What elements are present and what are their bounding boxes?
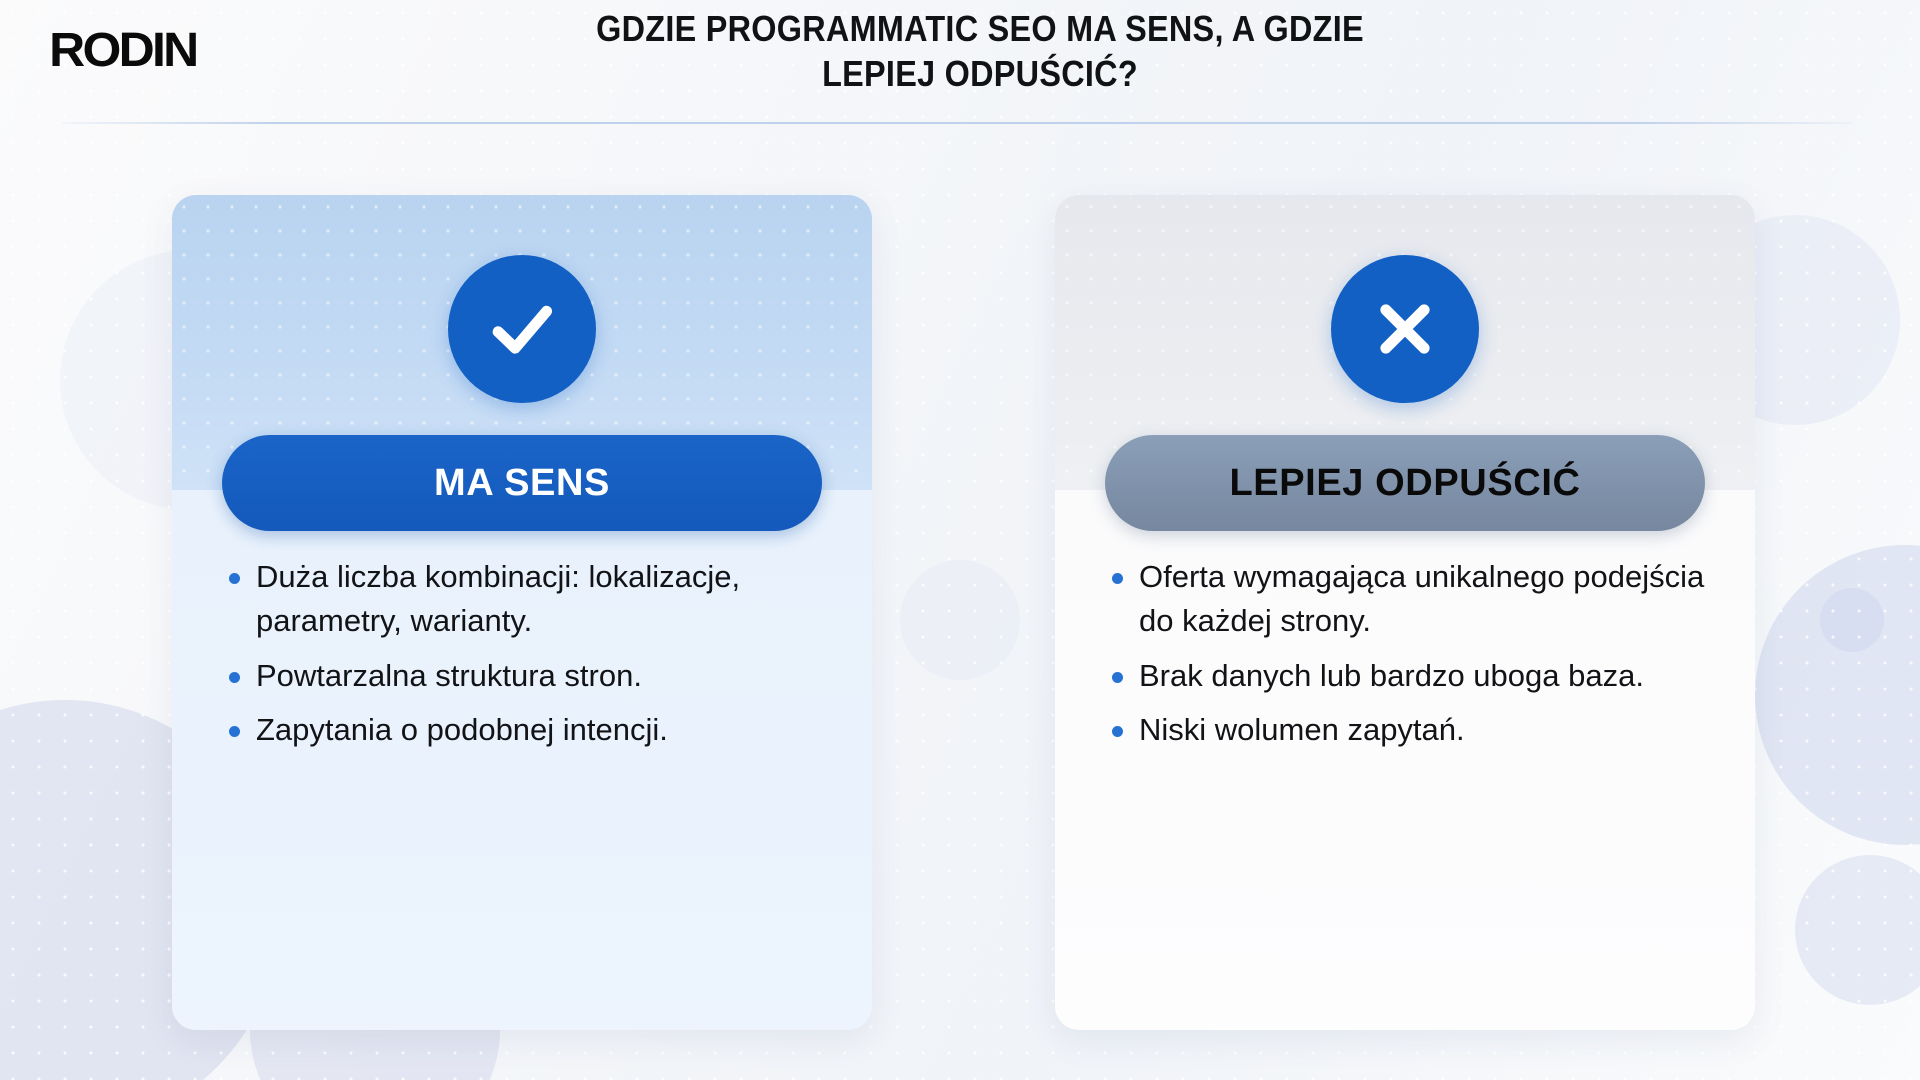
brand-logo: RODIN [49,23,196,78]
slide-header: RODIN GDZIE PROGRAMMATIC SEO MA SENS, A … [0,0,1920,125]
list-item: Powtarzalna struktura stron. [216,654,828,698]
badge-lepiej-odpuscic: LEPIEJ ODPUŚCIĆ [1105,435,1705,531]
card-lepiej-odpuscic: LEPIEJ ODPUŚCIĆ Oferta wymagająca unikal… [1055,195,1755,1030]
list-item: Niski wolumen zapytań. [1099,708,1711,752]
x-icon [1331,255,1479,403]
badge-ma-sens: MA SENS [222,435,822,531]
page-title: GDZIE PROGRAMMATIC SEO MA SENS, A GDZIE … [395,6,1565,96]
check-icon [448,255,596,403]
card-ma-sens: MA SENS Duża liczba kombinacji: lokaliza… [172,195,872,1030]
drawbacks-list: Oferta wymagająca unikalnego podejścia d… [1055,555,1755,762]
benefits-list: Duża liczba kombinacji: lokalizacje, par… [172,555,872,762]
comparison-cards: MA SENS Duża liczba kombinacji: lokaliza… [0,0,1920,1080]
list-item: Zapytania o podobnej intencji. [216,708,828,752]
list-item: Oferta wymagająca unikalnego podejścia d… [1099,555,1711,644]
page-title-line-1: GDZIE PROGRAMMATIC SEO MA SENS, A GDZIE [395,6,1565,51]
page-title-line-2: LEPIEJ ODPUŚCIĆ? [395,51,1565,96]
list-item: Brak danych lub bardzo uboga baza. [1099,654,1711,698]
list-item: Duża liczba kombinacji: lokalizacje, par… [216,555,828,644]
header-divider [62,122,1852,124]
